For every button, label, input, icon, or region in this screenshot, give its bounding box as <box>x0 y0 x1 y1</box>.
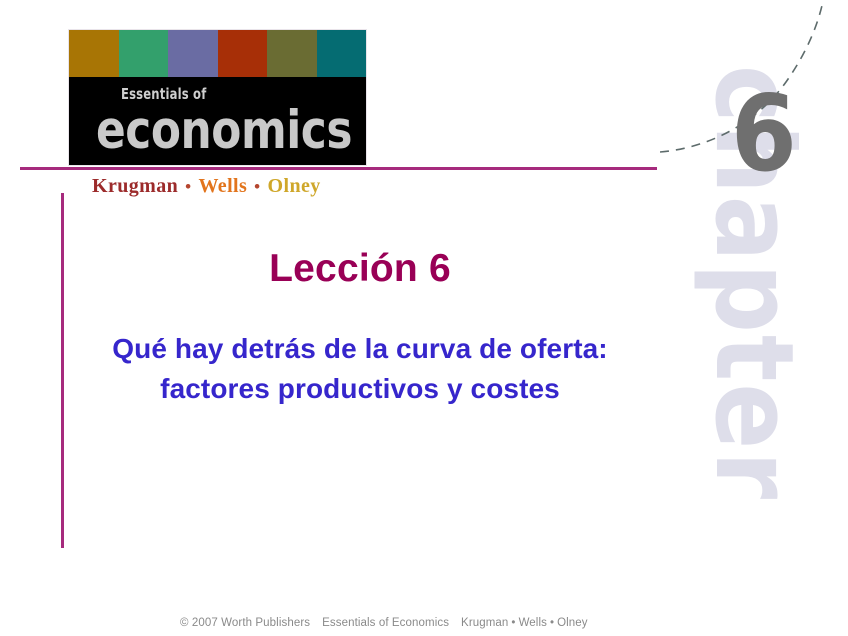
author-krugman: Krugman <box>92 175 178 197</box>
footer-author-1: Krugman <box>461 617 508 629</box>
footer-book-title: Essentials of Economics <box>322 617 449 629</box>
logo-color-bars <box>69 30 366 77</box>
logo-color-bar-3 <box>168 30 218 77</box>
page-subtitle: Qué hay detrás de la curva de oferta: fa… <box>0 329 720 409</box>
horizontal-rule <box>20 167 657 170</box>
logo-color-bar-6 <box>317 30 367 77</box>
page-subtitle-line-2: factores productivos y costes <box>0 369 720 409</box>
author-olney: Olney <box>268 175 321 197</box>
footer-credit: © 2007 Worth PublishersEssentials of Eco… <box>180 617 588 629</box>
logo-title-panel: Essentials of economics <box>69 77 366 165</box>
book-cover-logo: Essentials of economics <box>69 30 366 165</box>
author-separator-2: • <box>247 177 267 196</box>
logo-color-bar-5 <box>267 30 317 77</box>
footer-author-2: Wells <box>519 617 547 629</box>
logo-color-bar-4 <box>218 30 268 77</box>
page-subtitle-line-1: Qué hay detrás de la curva de oferta: <box>0 329 720 369</box>
author-wells: Wells <box>199 175 248 197</box>
footer-separator-2: • <box>547 617 557 629</box>
logo-color-bar-1 <box>69 30 119 77</box>
footer-separator-1: • <box>508 617 518 629</box>
authors-line: Krugman•Wells•Olney <box>92 175 321 198</box>
page-title: Lección 6 <box>0 247 720 291</box>
footer-author-3: Olney <box>557 617 588 629</box>
chapter-number: 6 <box>731 82 797 187</box>
footer-copyright: © 2007 Worth Publishers <box>180 617 310 629</box>
logo-wordmark-text: economics <box>96 103 352 159</box>
slide-canvas: Essentials of economics Krugman•Wells•Ol… <box>0 0 848 636</box>
logo-color-bar-2 <box>119 30 169 77</box>
author-separator-1: • <box>178 177 198 196</box>
